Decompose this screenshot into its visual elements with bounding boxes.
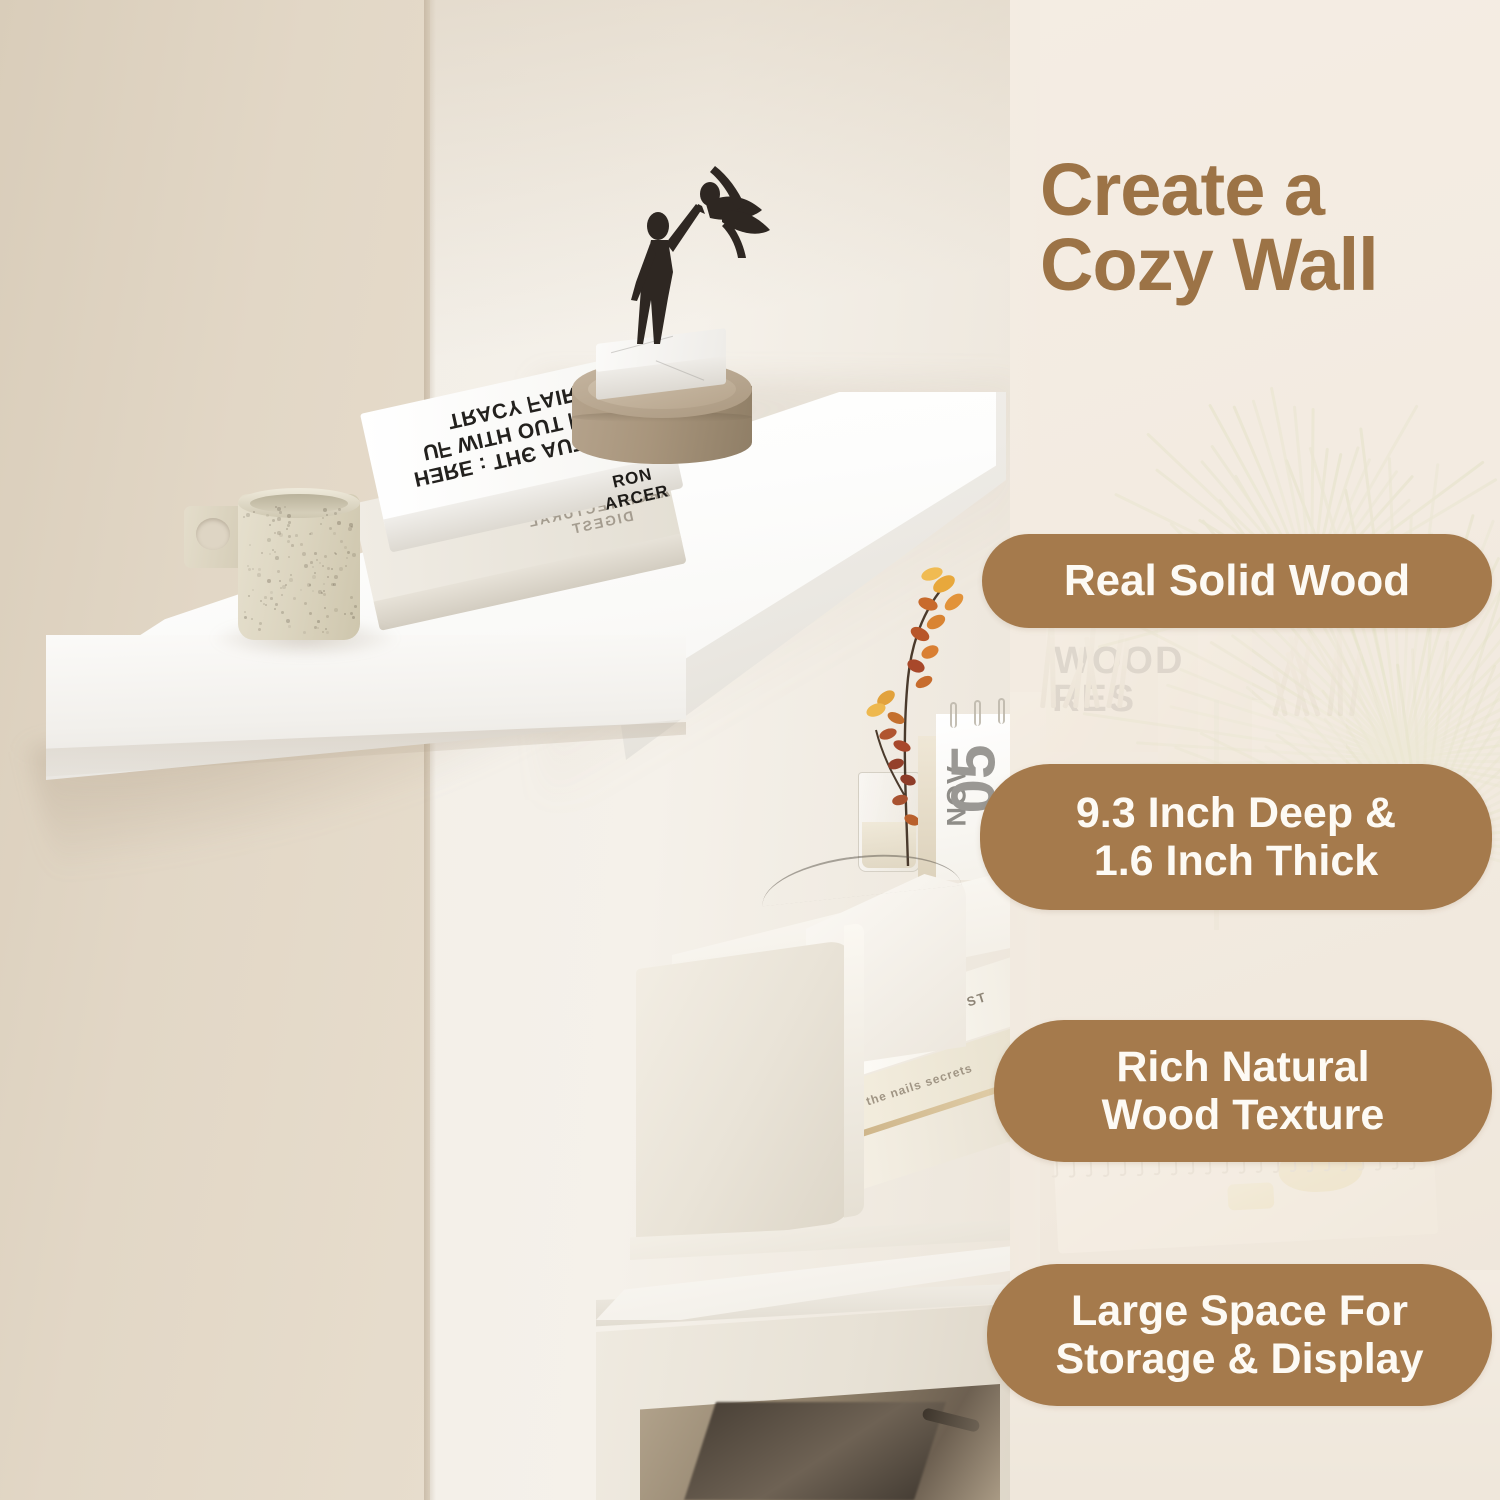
feature-badge-real-solid-wood[interactable]: Real Solid Wood — [982, 534, 1492, 628]
feature-badge-dimensions[interactable]: 9.3 Inch Deep &1.6 Inch Thick — [980, 764, 1492, 910]
feature-badge-label: Real Solid Wood — [1064, 556, 1410, 605]
feature-badge-label: 9.3 Inch Deep &1.6 Inch Thick — [1076, 789, 1396, 885]
feature-badge-wood-texture[interactable]: Rich NaturalWood Texture — [994, 1020, 1492, 1162]
feature-badge-label: Large Space ForStorage & Display — [1056, 1287, 1424, 1383]
feature-badge-label: Rich NaturalWood Texture — [1102, 1043, 1385, 1139]
feature-badge-storage[interactable]: Large Space ForStorage & Display — [987, 1264, 1492, 1406]
feature-badge-list: Real Solid Wood 9.3 Inch Deep &1.6 Inch … — [0, 0, 1500, 1500]
product-banner: ARCHITECTURAL DIGEST ЯОНТUA ЭHT : ƎЯEHЯO… — [0, 0, 1500, 1500]
